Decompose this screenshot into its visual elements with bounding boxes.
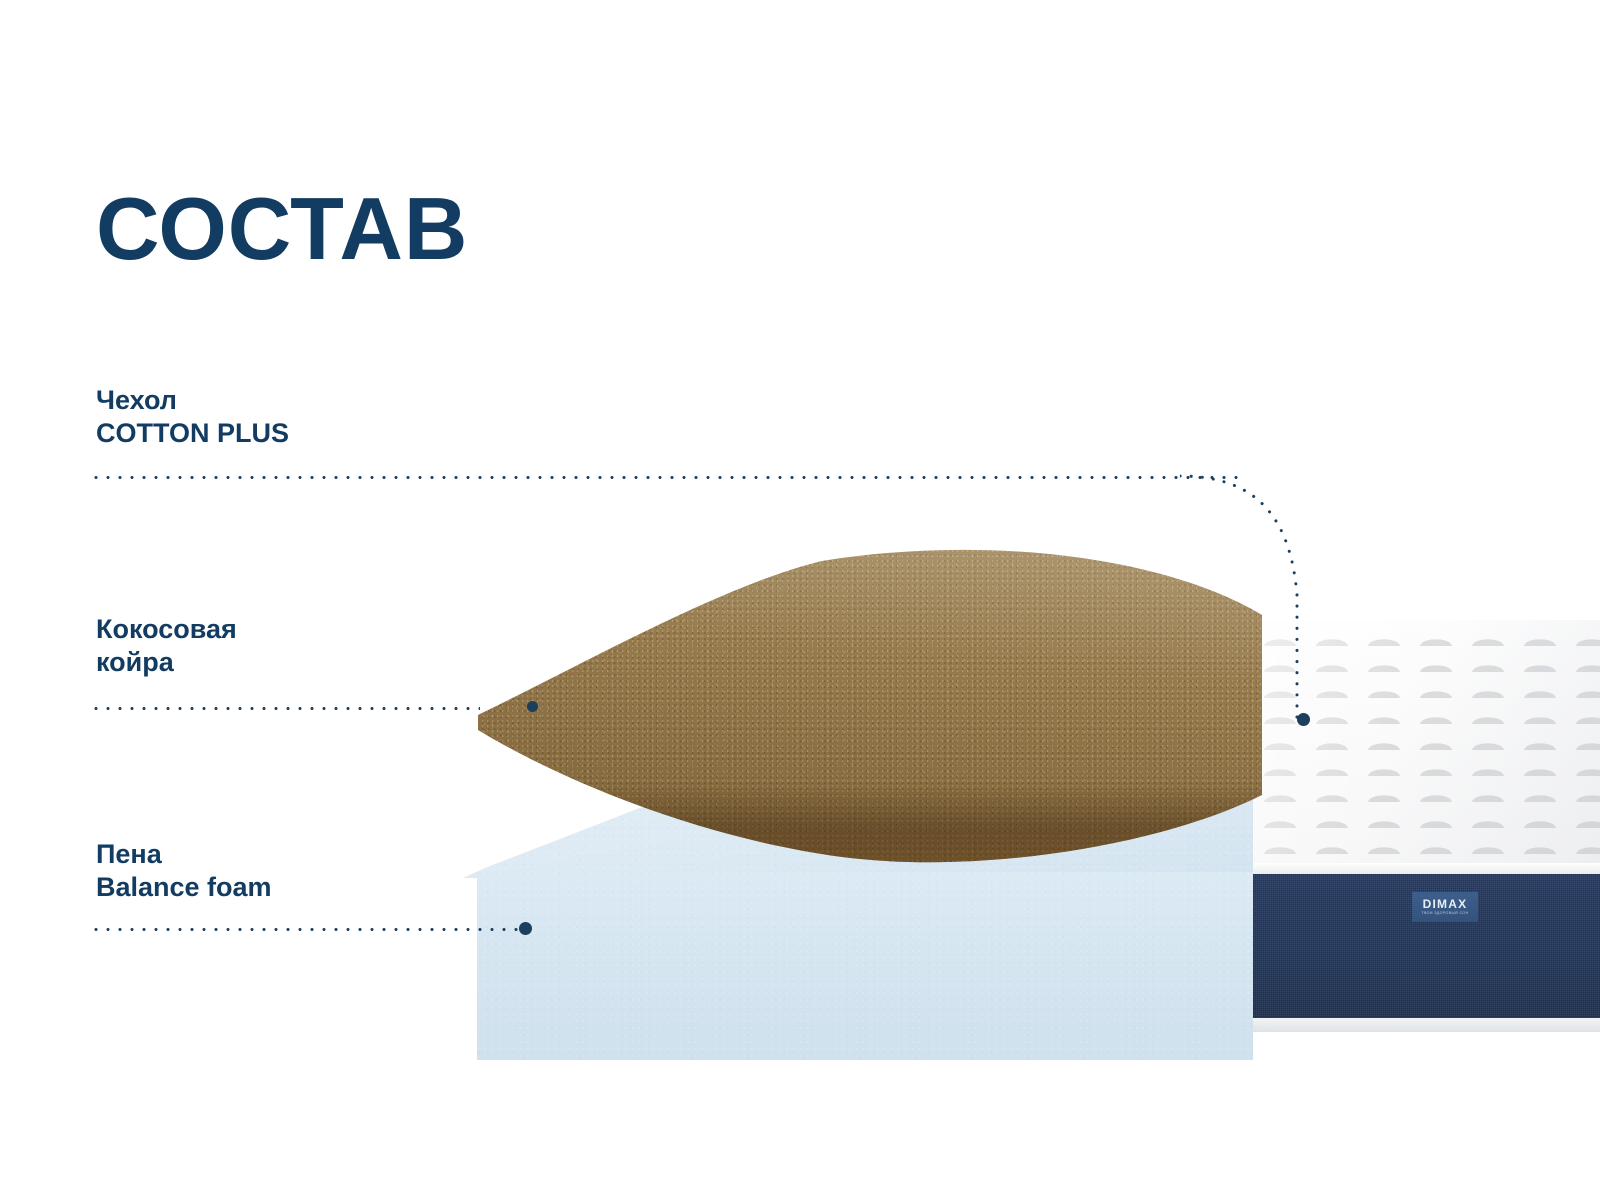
leader-line-coir bbox=[90, 707, 480, 710]
label-cover: Чехол COTTON PLUS bbox=[96, 384, 289, 450]
label-cover-line2: COTTON PLUS bbox=[96, 417, 289, 450]
leader-endpoint-cover bbox=[1297, 713, 1310, 726]
coconut-coir-slab bbox=[462, 545, 1262, 875]
label-foam: Пена Balance foam bbox=[96, 838, 272, 904]
label-coir-line2: койра bbox=[96, 646, 237, 679]
leader-line-cover bbox=[90, 476, 1240, 479]
leader-endpoint-foam bbox=[519, 922, 532, 935]
label-foam-line1: Пена bbox=[96, 838, 272, 871]
brand-name: DIMAX bbox=[1423, 898, 1468, 910]
page-title: СОСТАВ bbox=[96, 185, 468, 273]
label-foam-line2: Balance foam bbox=[96, 871, 272, 904]
leader-endpoint-coir bbox=[527, 701, 538, 712]
foam-front-face bbox=[463, 872, 1253, 1060]
coir-surface bbox=[462, 545, 1262, 875]
label-cover-line1: Чехол bbox=[96, 384, 289, 417]
infographic-canvas: СОСТАВ DIMAX ТВОИ ЗДОРОВЫЙ СОН Чехол COT… bbox=[0, 0, 1600, 1201]
dimax-logo-patch: DIMAX ТВОИ ЗДОРОВЫЙ СОН bbox=[1412, 892, 1478, 922]
label-coir-line1: Кокосовая bbox=[96, 613, 237, 646]
brand-subtitle: ТВОИ ЗДОРОВЫЙ СОН bbox=[1421, 912, 1468, 916]
leader-line-foam bbox=[90, 928, 520, 931]
label-coir: Кокосовая койра bbox=[96, 613, 237, 679]
leader-curve-cover bbox=[1180, 455, 1360, 745]
